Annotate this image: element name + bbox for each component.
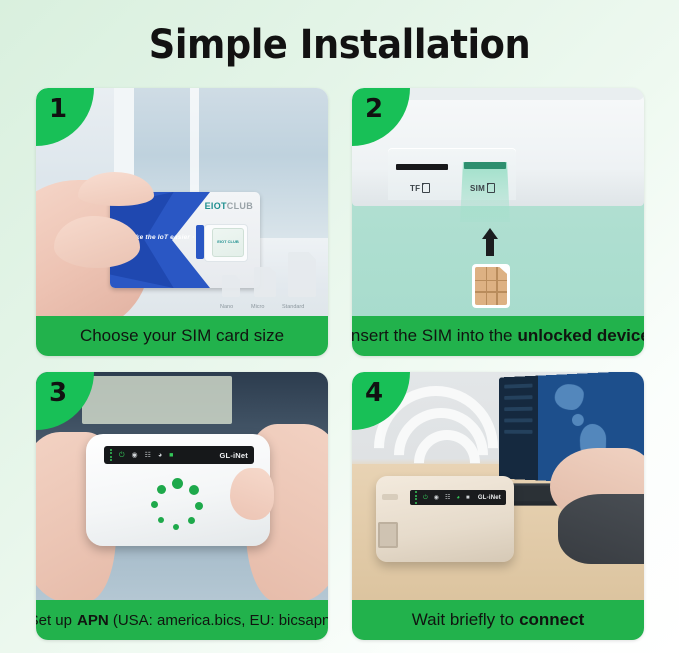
sim-size-standard-shape xyxy=(288,252,316,297)
fingertip xyxy=(230,468,274,520)
sim-card-icon xyxy=(487,183,495,193)
router-brand-label: GL-iNet xyxy=(220,451,248,460)
eiotclub-logo: EIOTCLUB xyxy=(205,201,253,211)
device-top-edge xyxy=(396,88,644,100)
router-ethernet-port xyxy=(378,522,398,548)
up-arrow-icon xyxy=(482,228,498,256)
sim-label-text: SIM xyxy=(470,184,485,193)
step-3-caption: Set upAPN (USA: america.bics, EU: bicsap… xyxy=(36,600,328,640)
sleeve xyxy=(558,494,644,564)
step-panel-2: TF SIM 2 Insert the SIM into theunlocked… xyxy=(352,88,644,356)
step-2-caption-bold: unlocked device xyxy=(518,326,644,346)
step-number-2: 2 xyxy=(365,94,383,124)
chip-line-1 xyxy=(486,267,488,305)
lan-icon: ☷ xyxy=(145,452,151,459)
step-number-4: 4 xyxy=(365,378,383,408)
step-3-caption-bold: APN xyxy=(77,612,109,629)
power-icon: ⏻ xyxy=(119,452,125,459)
chip-line-2 xyxy=(496,267,498,305)
router-usb-port xyxy=(382,494,398,500)
step-4-caption-bold: connect xyxy=(519,610,584,630)
sim-size-label-micro: Micro xyxy=(251,304,264,310)
page-title: Simple Installation xyxy=(27,22,652,68)
globe-icon-4: ◉ xyxy=(434,495,439,501)
tf-slot-label: TF xyxy=(410,183,430,193)
continent-north-america xyxy=(555,384,584,411)
sim-chip-contacts xyxy=(475,267,507,305)
screen-sidebar xyxy=(499,376,538,481)
continent-central xyxy=(572,414,584,426)
logo-eiot: EIOT xyxy=(205,201,227,211)
battery-leds-icon xyxy=(110,449,112,462)
step-4-caption: Wait briefly toconnect xyxy=(352,600,644,640)
tf-label-text: TF xyxy=(410,184,420,193)
globe-icon: ◉ xyxy=(132,452,138,459)
loading-spinner-icon xyxy=(148,478,206,536)
step-4-caption-prefix: Wait briefly to xyxy=(412,610,514,630)
step-1-caption: Choose your SIM card size xyxy=(36,316,328,356)
step-panel-1: EIOTCLUB · Make the IoT easier · EIOT CL… xyxy=(36,88,328,356)
step-2-caption-prefix: Insert the SIM into the xyxy=(352,326,513,346)
signal-icon-4: ■ xyxy=(466,495,470,501)
signal-icon: ■ xyxy=(169,452,173,459)
router-led-panel-4: ⏻ ◉ ☷ ◕ ■ GL-iNet xyxy=(410,490,506,505)
sim-size-label-nano: Nano xyxy=(220,304,233,310)
step-number-1: 1 xyxy=(49,94,67,124)
sim-size-nano-shape xyxy=(222,275,240,297)
lan-icon-4: ☷ xyxy=(445,495,450,501)
router-device: ⏻ ◉ ☷ ◕ ■ GL-iNet xyxy=(86,434,270,546)
logo-club: CLUB xyxy=(227,201,253,211)
power-icon-4: ⏻ xyxy=(423,495,428,501)
step-3-caption-prefix: Set up xyxy=(36,612,72,629)
wifi-icon-4: ◕ xyxy=(456,495,460,501)
sim-size-label-standard: Standard xyxy=(282,304,304,310)
step-panel-4: ⏻ ◉ ☷ ◕ ■ GL-iNet 4 Wait briefly toconne… xyxy=(352,372,644,640)
tf-card-icon xyxy=(422,183,430,193)
tf-slot xyxy=(396,164,448,170)
wifi-icon: ◕ xyxy=(158,452,162,459)
router-led-panel: ⏻ ◉ ☷ ◕ ■ GL-iNet xyxy=(104,446,254,464)
sim-slot-label: SIM xyxy=(470,183,495,193)
router-brand-label-4: GL-iNet xyxy=(478,495,501,501)
step-3-caption-suffix: (USA: america.bics, EU: bicsapn) xyxy=(113,612,328,629)
battery-leds-icon-4 xyxy=(415,491,417,504)
sim-size-micro-shape xyxy=(254,267,276,297)
card-notch xyxy=(196,225,204,259)
router-device-4: ⏻ ◉ ☷ ◕ ■ GL-iNet xyxy=(376,476,514,562)
sim-chip-label: EIOT CLUB xyxy=(217,240,239,244)
sim-chip xyxy=(472,264,510,308)
step-1-caption-text: Choose your SIM card size xyxy=(80,326,284,346)
sim-slot xyxy=(464,162,506,169)
steps-grid: EIOTCLUB · Make the IoT easier · EIOT CL… xyxy=(36,88,644,648)
sim-size-diagram: Nano Micro Standard xyxy=(218,250,322,312)
background-paper xyxy=(82,376,232,424)
step-panel-3: ⏻ ◉ ☷ ◕ ■ GL-iNet xyxy=(36,372,328,640)
step-number-3: 3 xyxy=(49,378,67,408)
step-2-caption: Insert the SIM into theunlocked device xyxy=(352,316,644,356)
infographic-page: Simple Installation EIOTCLUB · Make the … xyxy=(0,0,679,653)
